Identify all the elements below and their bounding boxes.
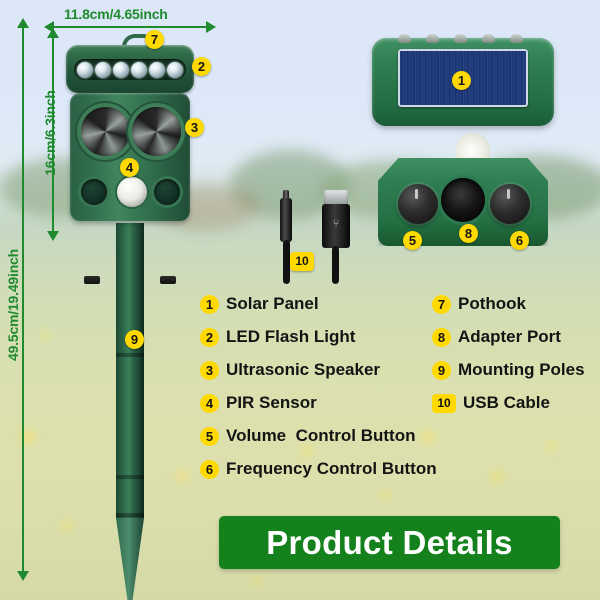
callout-badge-usb-cable: 10	[290, 252, 314, 271]
dimension-total-line	[22, 26, 24, 574]
mount-clip-right	[160, 276, 176, 284]
legend-item-ultrasonic-speaker: 3 Ultrasonic Speaker	[200, 360, 380, 380]
legend-item-pir-sensor: 4 PIR Sensor	[200, 393, 317, 413]
solar-screw	[482, 34, 495, 43]
callout-badge-volume: 5	[403, 231, 422, 250]
callout-badge-solar: 1	[452, 71, 471, 90]
legend-item-adapter-port: 8 Adapter Port	[432, 327, 561, 347]
flower-bokeh	[40, 330, 52, 341]
frequency-control-knob[interactable]	[490, 184, 530, 224]
legend-badge: 9	[432, 361, 451, 380]
led-flash-light-bar	[66, 45, 194, 93]
mount-clip-left	[84, 276, 100, 284]
legend-badge: 7	[432, 295, 451, 314]
pir-dome-rear	[456, 133, 490, 159]
solar-screw	[510, 34, 523, 43]
cable-wire-left	[283, 240, 290, 284]
legend-badge: 4	[200, 394, 219, 413]
dimension-body-arrow-bottom	[47, 231, 59, 241]
callout-badge-speaker: 3	[185, 118, 204, 137]
legend-label: Pothook	[458, 294, 526, 314]
legend-badge: 8	[432, 328, 451, 347]
callout-badge-adapter: 8	[459, 224, 478, 243]
callout-badge-pir: 4	[120, 158, 139, 177]
pole-joint	[116, 353, 144, 357]
cable-wire-right	[332, 246, 339, 284]
ultrasonic-speaker-right	[132, 107, 181, 156]
solar-screw	[454, 34, 467, 43]
dimension-body-arrow-top	[47, 28, 59, 38]
legend-label: Mounting Poles	[458, 360, 585, 380]
legend-label: USB Cable	[463, 393, 550, 413]
barrel-plug	[280, 198, 292, 242]
legend-label: Adapter Port	[458, 327, 561, 347]
legend-item-solar-panel: 1 Solar Panel	[200, 294, 319, 314]
legend-label: Frequency Control Button	[226, 459, 437, 479]
legend-label: Volume Control Button	[226, 426, 416, 446]
led-window	[74, 59, 186, 80]
legend-item-usb-cable: 10 USB Cable	[432, 393, 550, 413]
led-lamp	[95, 62, 111, 78]
pole-joint	[116, 475, 144, 479]
legend-item-mounting-poles: 9 Mounting Poles	[432, 360, 585, 380]
dimension-total-label: 49.5cm/19.49inch	[5, 235, 21, 375]
callout-badge-poles: 9	[125, 330, 144, 349]
legend-item-volume-control-button: 5 Volume Control Button	[200, 426, 416, 446]
flower-bokeh	[380, 490, 392, 501]
led-lamp	[167, 62, 183, 78]
callout-badge-led: 2	[192, 57, 211, 76]
legend-badge: 1	[200, 295, 219, 314]
legend-item-pothook: 7 Pothook	[432, 294, 526, 314]
legend-label: Solar Panel	[226, 294, 319, 314]
dimension-total-arrow-top	[17, 18, 29, 28]
pole-joint	[116, 513, 144, 517]
dimension-width-arrow-right	[206, 21, 216, 33]
legend-badge: 6	[200, 460, 219, 479]
legend-badge: 5	[200, 427, 219, 446]
legend-label: PIR Sensor	[226, 393, 317, 413]
dimension-total-arrow-bottom	[17, 571, 29, 581]
dimension-width-label: 11.8cm/4.65inch	[64, 6, 168, 22]
legend-badge: 10	[432, 394, 456, 413]
adapter-port	[441, 178, 485, 222]
banner-title: Product Details	[266, 524, 513, 562]
callout-badge-frequency: 6	[510, 231, 529, 250]
mounting-pole	[116, 223, 144, 518]
repeller-device	[60, 35, 210, 580]
led-lamp	[113, 62, 129, 78]
legend-item-frequency-control-button: 6 Frequency Control Button	[200, 459, 437, 479]
solar-screw	[426, 34, 439, 43]
volume-control-knob[interactable]	[398, 184, 438, 224]
legend-badge: 3	[200, 361, 219, 380]
ultrasonic-speaker-left	[81, 107, 130, 156]
flower-bokeh	[250, 575, 264, 587]
led-lamp	[131, 62, 147, 78]
callout-badge-pothook: 7	[145, 30, 164, 49]
solar-screw	[398, 34, 411, 43]
product-details-infographic: 11.8cm/4.65inch 16cm/6.3inch 49.5cm/19.4…	[0, 0, 600, 600]
legend-badge: 2	[200, 328, 219, 347]
sensor-dome-left	[81, 179, 107, 205]
dimension-width-line	[52, 26, 208, 28]
usb-logo-icon: ⑂	[330, 218, 342, 230]
sensor-dome-right	[154, 179, 180, 205]
legend-item-led-flash-light: 2 LED Flash Light	[200, 327, 355, 347]
led-lamp	[149, 62, 165, 78]
dimension-body-label: 16cm/6.3inch	[42, 78, 58, 188]
legend-label: LED Flash Light	[226, 327, 355, 347]
led-lamp	[77, 62, 93, 78]
pir-sensor-dome	[117, 177, 147, 207]
usb-cable: ⑂	[264, 198, 374, 284]
device-body	[70, 93, 190, 221]
legend-label: Ultrasonic Speaker	[226, 360, 380, 380]
legend: 1 Solar Panel 2 LED Flash Light 3 Ultras…	[200, 288, 598, 478]
product-details-banner: Product Details	[219, 516, 560, 569]
